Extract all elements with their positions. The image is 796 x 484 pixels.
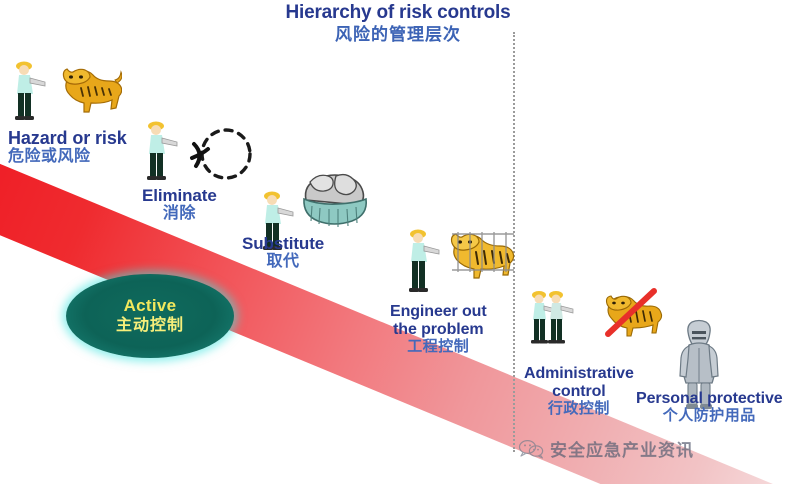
watermark-text: 安全应急产业资讯: [550, 436, 694, 461]
worker-figure-hazard: [8, 58, 48, 124]
wechat-icon: [518, 439, 544, 459]
risk-control-hierarchy-diagram: Hierarchy of risk controls 风险的管理层次: [0, 0, 796, 484]
active-callout-en: Active: [124, 296, 177, 316]
active-callout-zh: 主动控制: [116, 316, 184, 336]
boulder-rock-icon: [298, 166, 376, 232]
worker-figure-substitute: [256, 188, 296, 254]
worker-figure-eliminate: [140, 118, 180, 184]
worker-figure-engineer: [402, 226, 442, 298]
worker-figures-administrative: [526, 288, 586, 350]
tiger-icon: [50, 56, 122, 118]
crossed-out-tiger-icon: [600, 286, 666, 348]
dashed-circle-empty-icon: [186, 124, 258, 188]
active-control-callout: Active 主动控制: [66, 274, 234, 358]
knight-armor-icon: [672, 318, 726, 414]
caged-tiger-icon: [444, 224, 520, 288]
watermark: 安全应急产业资讯: [518, 436, 694, 461]
